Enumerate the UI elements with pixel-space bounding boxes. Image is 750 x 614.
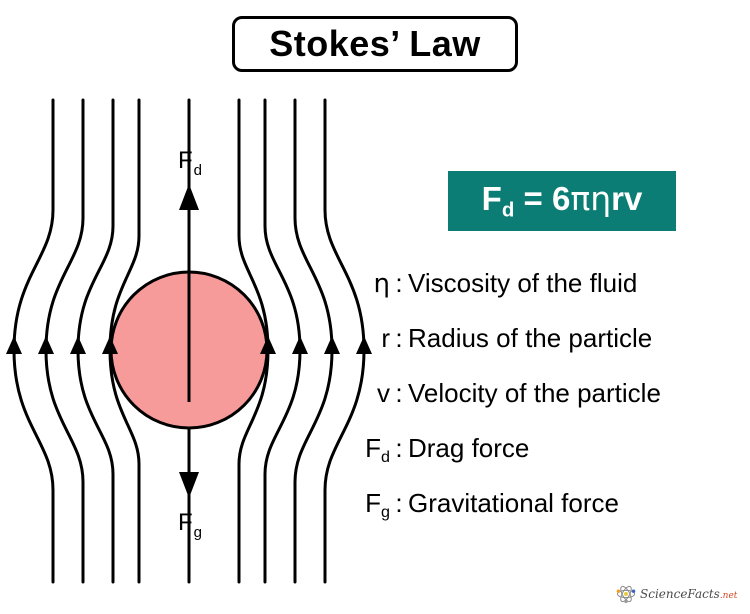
legend-symbol: r: [352, 323, 390, 357]
atom-icon: [616, 584, 636, 604]
formula-box: Fd = 6πηrv: [448, 171, 676, 231]
watermark: ScienceFacts.net: [616, 583, 737, 605]
legend-symbol-main: η: [374, 269, 390, 299]
gravity-force-label-symbol: F: [178, 509, 193, 536]
watermark-label: ScienceFacts.net: [640, 587, 737, 601]
formula-expression: Fd = 6πηrv: [482, 182, 643, 221]
legend-description: Velocity of the particle: [408, 378, 750, 409]
legend-description: Viscosity of the fluid: [408, 268, 750, 299]
legend-symbol-sub: g: [381, 503, 390, 521]
legend-item-gravitational-force: Fg : Gravitational force: [352, 488, 750, 543]
drag-force-label-sub: d: [194, 162, 202, 179]
legend-description: Radius of the particle: [408, 323, 750, 354]
legend-item-viscosity: η : Viscosity of the fluid: [352, 268, 750, 323]
formula-eta: η: [590, 179, 611, 218]
legend-symbol-main: F: [365, 433, 381, 463]
legend-colon: :: [390, 378, 408, 409]
legend-item-velocity: v : Velocity of the particle: [352, 378, 750, 433]
legend-colon: :: [390, 323, 408, 354]
legend-description: Gravitational force: [408, 488, 750, 519]
drag-force-label-symbol: F: [178, 147, 193, 174]
flow-arrowheads-left: [6, 336, 118, 354]
legend-symbol: Fd: [352, 433, 390, 467]
arrowhead-left-2: [70, 336, 86, 354]
arrowhead-right-3: [324, 336, 340, 354]
gravity-force-label-sub: g: [194, 524, 202, 541]
legend-description: Drag force: [408, 433, 750, 464]
watermark-name: ScienceFacts: [640, 587, 720, 601]
formula-lhs: F: [482, 180, 502, 217]
legend-symbol-sub: d: [381, 448, 390, 466]
legend-item-drag-force: Fd : Drag force: [352, 433, 750, 488]
legend-symbol: v: [352, 378, 390, 412]
legend-symbol: Fg: [352, 488, 390, 522]
page-title-box: Stokes’ Law: [232, 16, 518, 72]
page-title: Stokes’ Law: [269, 26, 481, 62]
arrowhead-right-2: [292, 336, 308, 354]
legend-symbol: η: [352, 268, 390, 302]
gravity-force-arrow: [179, 444, 199, 498]
stokes-law-diagram: Fd Fg: [0, 86, 380, 596]
legend-symbol-main: r: [381, 323, 390, 353]
legend-colon: :: [390, 488, 408, 519]
formula-equals: =: [524, 180, 543, 217]
legend-list: η : Viscosity of the fluid r : Radius of…: [352, 268, 750, 543]
watermark-tld: .net: [720, 591, 738, 601]
legend-item-radius: r : Radius of the particle: [352, 323, 750, 378]
formula-lhs-sub: d: [502, 198, 514, 221]
formula-coefficient: 6: [552, 180, 570, 217]
formula-pi: π: [570, 179, 590, 218]
legend-symbol-main: F: [365, 488, 381, 518]
formula-radius: r: [611, 180, 624, 217]
legend-symbol-main: v: [377, 378, 390, 408]
arrowhead-left-4: [6, 336, 22, 354]
legend-colon: :: [390, 268, 408, 299]
formula-velocity: v: [624, 180, 642, 217]
arrowhead-left-3: [38, 336, 54, 354]
legend-colon: :: [390, 433, 408, 464]
